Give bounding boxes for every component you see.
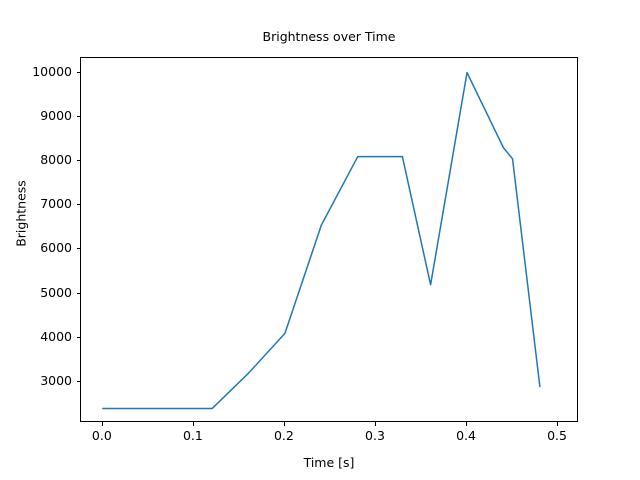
x-tick-mark	[102, 422, 103, 426]
x-tick-label: 0.2	[254, 430, 314, 442]
x-tick-mark	[193, 422, 194, 426]
x-tick-label: 0.5	[527, 430, 587, 442]
x-tick-label: 0.0	[72, 430, 132, 442]
y-tick-mark	[77, 72, 81, 73]
x-tick-mark	[557, 422, 558, 426]
y-tick-mark	[77, 248, 81, 249]
y-tick-label: 9000	[0, 110, 72, 122]
y-tick-label: 7000	[0, 198, 72, 210]
y-tick-label: 4000	[0, 331, 72, 343]
y-tick-label: 10000	[0, 66, 72, 78]
brightness-line	[103, 73, 540, 409]
y-tick-mark	[77, 381, 81, 382]
y-tick-label: 3000	[0, 375, 72, 387]
x-tick-label: 0.3	[345, 430, 405, 442]
plot-axes	[80, 57, 578, 422]
x-tick-mark	[466, 422, 467, 426]
y-tick-label: 8000	[0, 154, 72, 166]
y-axis-label: Brightness	[14, 154, 29, 274]
y-tick-mark	[77, 204, 81, 205]
x-tick-mark	[375, 422, 376, 426]
y-tick-label: 6000	[0, 242, 72, 254]
x-axis-label: Time [s]	[80, 455, 578, 470]
x-tick-label: 0.4	[436, 430, 496, 442]
y-tick-mark	[77, 160, 81, 161]
page-title: Brightness over Time	[80, 30, 578, 44]
line-series-svg	[81, 58, 579, 423]
y-tick-mark	[77, 337, 81, 338]
y-tick-label: 5000	[0, 287, 72, 299]
y-tick-mark	[77, 293, 81, 294]
matplotlib-figure: Brightness over Time 3000400050006000700…	[0, 0, 640, 480]
y-tick-mark	[77, 116, 81, 117]
x-tick-mark	[284, 422, 285, 426]
x-tick-label: 0.1	[163, 430, 223, 442]
